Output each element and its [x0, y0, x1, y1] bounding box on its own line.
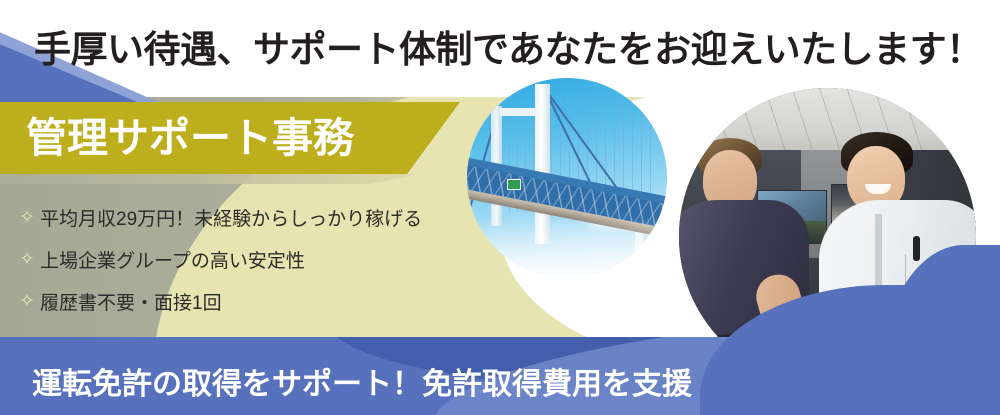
list-item: ✧ 履歴書不要・面接1回	[14, 280, 534, 322]
pen-icon	[913, 236, 920, 261]
list-item: ✧ 上場企業グループの高い安定性	[14, 238, 534, 280]
suspension-bridge-photo	[467, 78, 667, 278]
title-banner-shadow	[0, 174, 420, 184]
list-item-label: 平均月収29万円！未経験からしっかり稼げる	[40, 204, 422, 231]
bridge-sign	[507, 179, 521, 190]
sparkle-diamond-icon: ✧	[14, 292, 40, 311]
list-item-label: 履歴書不要・面接1回	[40, 288, 222, 315]
list-item-label: 上場企業グループの高い安定性	[40, 246, 305, 273]
horizon-haze	[467, 218, 667, 278]
benefits-list: ✧ 平均月収29万円！未経験からしっかり稼げる ✧ 上場企業グループの高い安定性…	[14, 196, 534, 322]
bottom-banner-label: 運転免許の取得をサポート！免許取得費用を支援	[32, 359, 692, 403]
page-title: 手厚い待遇、サポート体制であなたをお迎えいたします！	[34, 24, 983, 76]
job-title-banner: 管理サポート事務	[0, 102, 460, 174]
bridge-crossbeam	[500, 108, 538, 116]
list-item: ✧ 平均月収29万円！未経験からしっかり稼げる	[14, 196, 534, 238]
sparkle-diamond-icon: ✧	[14, 208, 40, 227]
recruitment-banner: 手厚い待遇、サポート体制であなたをお迎えいたします！ 管理サポート事務 ✧ 平均…	[0, 0, 1000, 415]
sparkle-diamond-icon: ✧	[14, 250, 40, 269]
job-title-label: 管理サポート事務	[0, 118, 354, 159]
